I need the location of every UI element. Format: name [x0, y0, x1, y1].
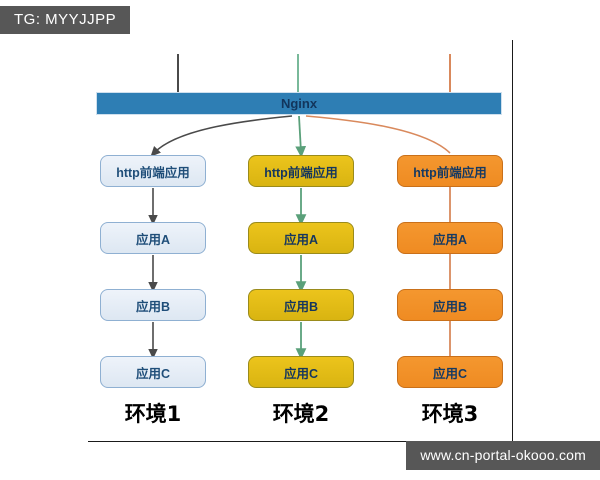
env1-node-http-frontend-label: http前端应用 [116, 162, 190, 181]
env2-node-app-a[interactable]: 应用A [248, 222, 354, 254]
env2-node-app-c[interactable]: 应用C [248, 356, 354, 388]
env1-node-app-a[interactable]: 应用A [100, 222, 206, 254]
inbound-stub-env1 [177, 54, 179, 92]
inbound-stub-env3 [449, 54, 451, 92]
env2-caption: 环境2 [231, 398, 371, 428]
env3-node-app-b-label: 应用B [433, 296, 467, 315]
env2-node-http-frontend[interactable]: http前端应用 [248, 155, 354, 187]
inbound-stub-env2 [297, 54, 299, 92]
env1-node-app-c-label: 应用C [136, 363, 170, 382]
env2-node-app-a-label: 应用A [284, 229, 318, 248]
env2-node-http-frontend-label: http前端应用 [264, 162, 338, 181]
env1-node-app-b[interactable]: 应用B [100, 289, 206, 321]
tg-watermark-badge: TG: MYYJJPP [0, 6, 130, 34]
env2-node-app-b[interactable]: 应用B [248, 289, 354, 321]
nginx-load-balancer-bar[interactable]: Nginx [96, 92, 502, 115]
env1-caption: 环境1 [83, 398, 223, 428]
env2-node-app-c-label: 应用C [284, 363, 318, 382]
frame-divider-right [512, 40, 513, 443]
site-watermark: www.cn-portal-okooo.com [406, 441, 600, 470]
nginx-label: Nginx [281, 96, 317, 111]
curve-nginx-to-env1 [154, 116, 292, 153]
env3-node-http-frontend-label: http前端应用 [413, 162, 487, 181]
env3-node-app-b[interactable]: 应用B [397, 289, 503, 321]
architecture-diagram: Nginx http前端应用 [0, 0, 600, 480]
env2-column: http前端应用 应用A 应用B 应用C [248, 155, 354, 388]
env3-caption: 环境3 [380, 398, 520, 428]
env1-column: http前端应用 应用A 应用B 应用C [100, 155, 206, 388]
curve-nginx-to-env3 [306, 116, 450, 153]
env3-column: http前端应用 应用A 应用B 应用C [397, 155, 503, 388]
env1-node-app-c[interactable]: 应用C [100, 356, 206, 388]
env2-node-app-b-label: 应用B [284, 296, 318, 315]
curve-nginx-to-env2 [299, 116, 301, 152]
env3-node-app-a[interactable]: 应用A [397, 222, 503, 254]
env3-node-app-c[interactable]: 应用C [397, 356, 503, 388]
env3-node-app-a-label: 应用A [433, 229, 467, 248]
env3-node-app-c-label: 应用C [433, 363, 467, 382]
env1-node-app-b-label: 应用B [136, 296, 170, 315]
env3-node-http-frontend[interactable]: http前端应用 [397, 155, 503, 187]
env1-node-http-frontend[interactable]: http前端应用 [100, 155, 206, 187]
env1-node-app-a-label: 应用A [136, 229, 170, 248]
